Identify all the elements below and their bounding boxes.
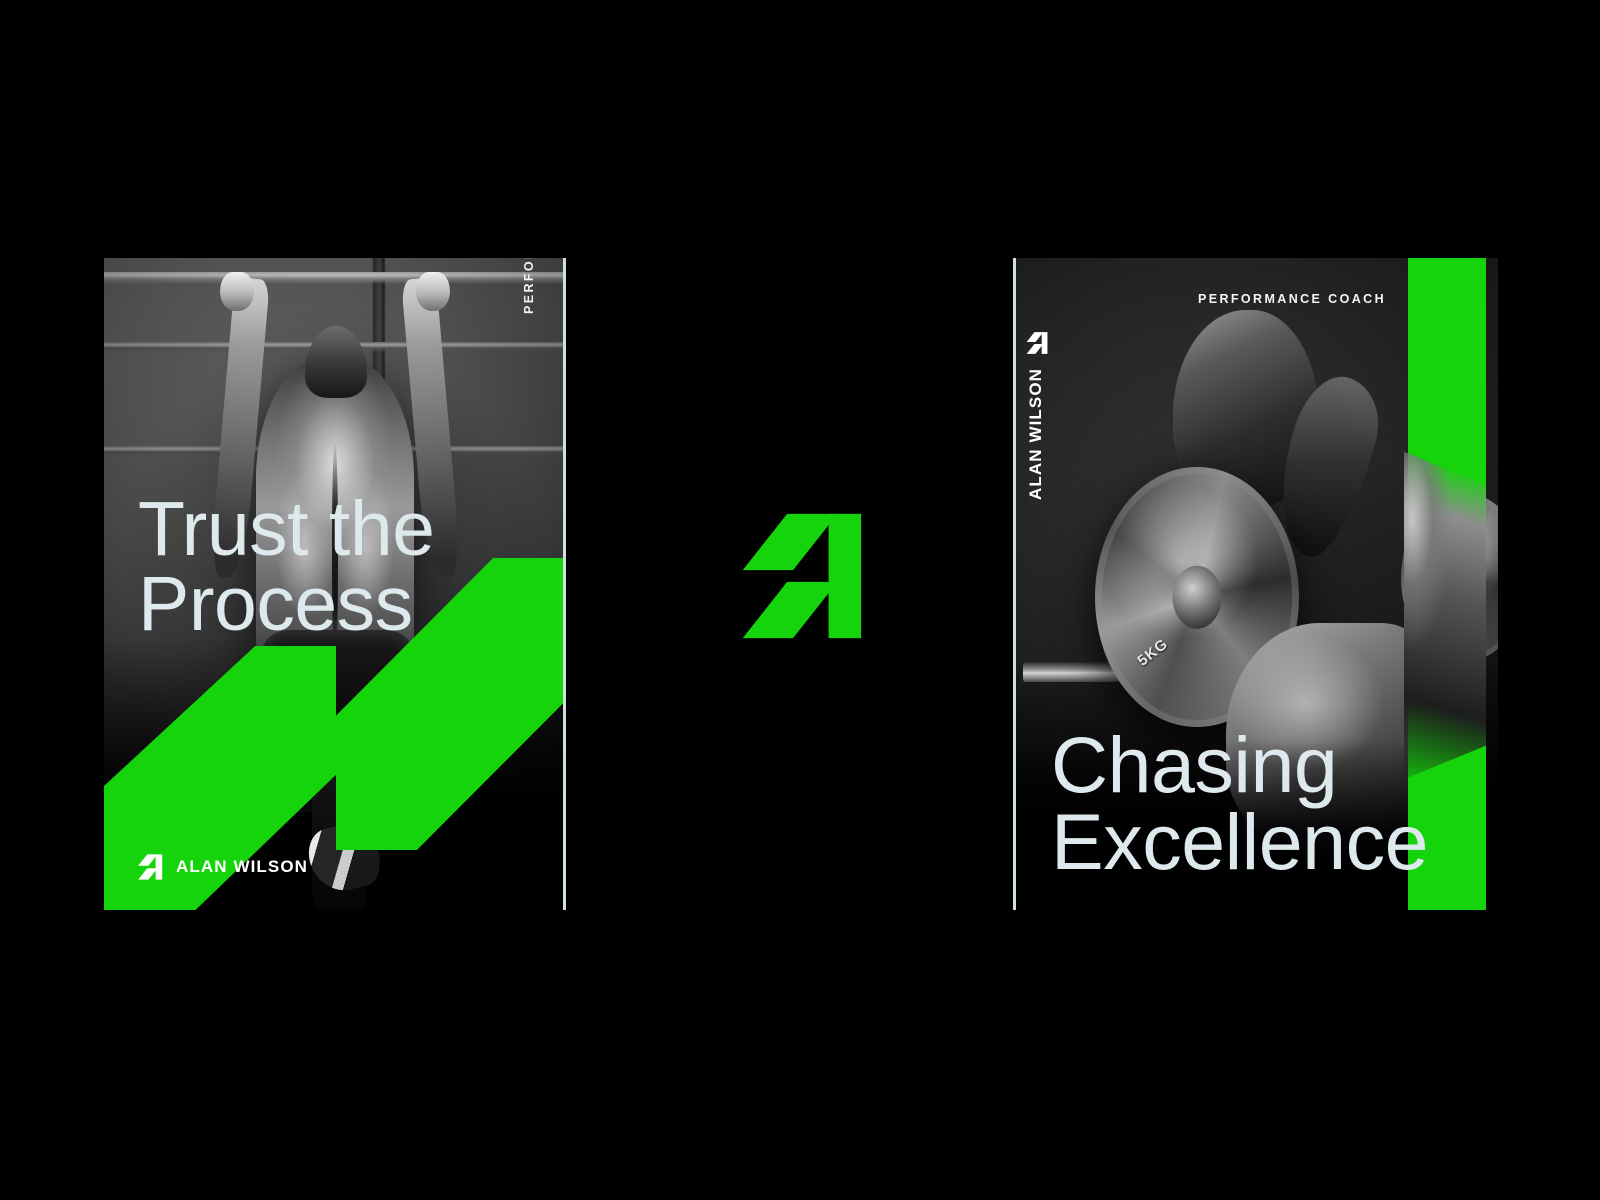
presentation-canvas: Trust the Process PERFORMANCE COACH ALAN…: [0, 0, 1600, 1200]
athlete-left-hand: [220, 272, 253, 311]
weight-plate-hub: [1173, 566, 1222, 629]
poster-eyebrow-performance-coach: PERFORMANCE COACH: [1198, 292, 1386, 306]
poster-edge-rule: [563, 258, 566, 910]
brand-wordmark-lockup[interactable]: ALAN WILSON: [1023, 330, 1049, 500]
poster-eyebrow-performance-coach: PERFORMANCE COACH: [522, 258, 536, 314]
alan-wilson-a-monogram-icon: [1023, 330, 1049, 356]
poster-edge-rule: [1013, 258, 1016, 910]
brand-wordmark-text: ALAN WILSON: [176, 857, 308, 877]
alan-wilson-a-monogram-icon: [134, 852, 164, 882]
poster-headline: Chasing Excellence: [1051, 726, 1428, 881]
poster-chasing-excellence[interactable]: 5KG PERFORMANCE COACH ALAN WILSON Chasin…: [1013, 258, 1498, 910]
poster-trust-the-process[interactable]: Trust the Process PERFORMANCE COACH ALAN…: [104, 258, 566, 910]
alan-wilson-a-monogram-icon: [722, 502, 870, 650]
center-brand-logo[interactable]: [722, 502, 870, 650]
brand-wordmark-text: ALAN WILSON: [1026, 368, 1046, 500]
athlete-head-cap: [305, 326, 367, 398]
brand-wordmark-lockup[interactable]: ALAN WILSON: [134, 852, 308, 882]
weight-plate-label: 5KG: [1135, 635, 1172, 669]
athlete-right-hand: [416, 272, 449, 311]
poster-headline: Trust the Process: [138, 492, 434, 643]
